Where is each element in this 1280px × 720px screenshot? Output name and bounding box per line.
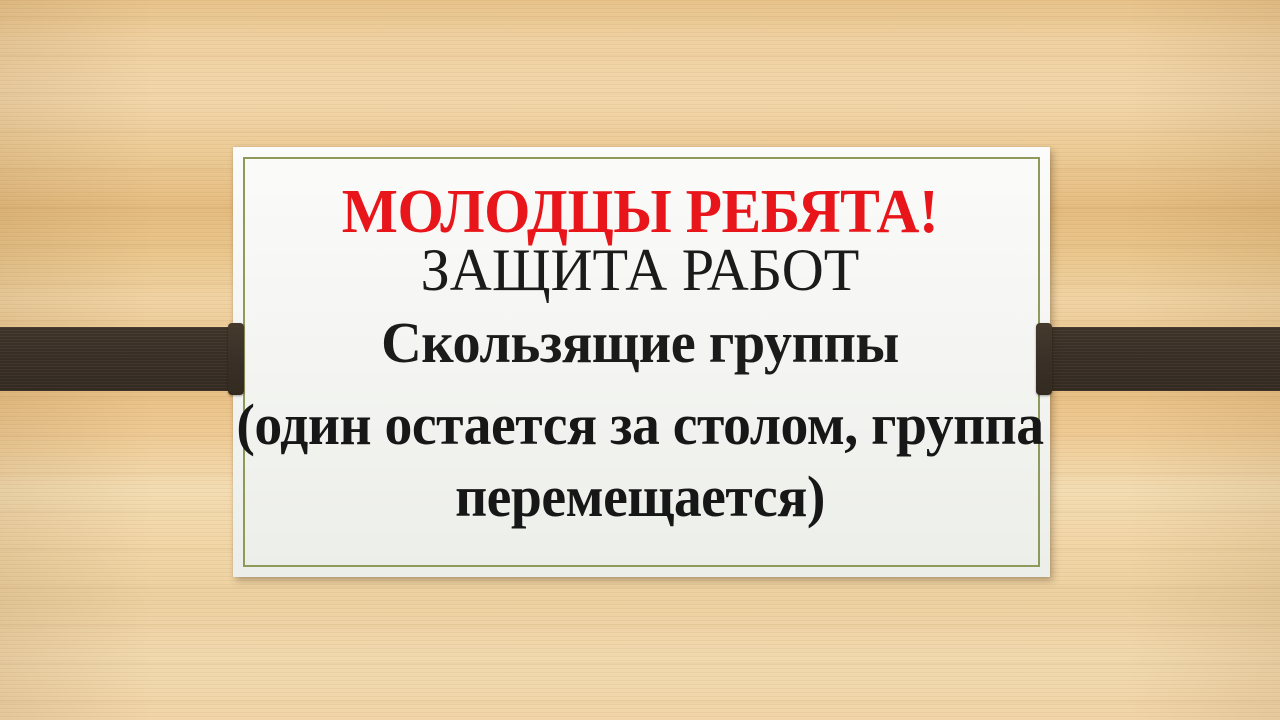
band-cap-left-icon [228,323,244,395]
band-cap-right-icon [1036,323,1052,395]
content-card [233,147,1050,577]
card-inner-border [243,157,1040,567]
slide-canvas: МОЛОДЦЫ РЕБЯТА! ЗАЩИТА РАБОТ Скользящие … [0,0,1280,720]
